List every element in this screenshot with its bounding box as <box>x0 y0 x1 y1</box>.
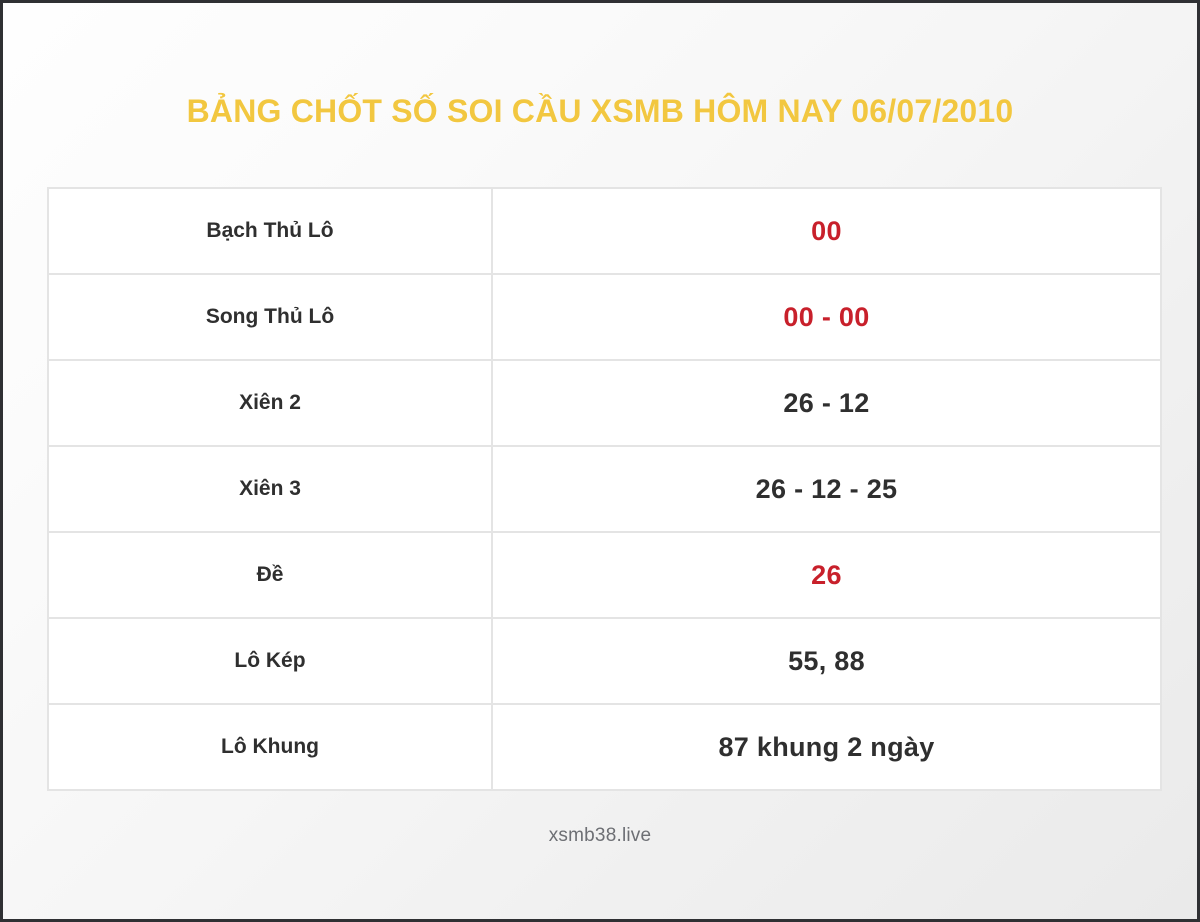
lottery-prediction-table: Bạch Thủ Lô00Song Thủ Lô00 - 00Xiên 226 … <box>47 187 1162 791</box>
row-label: Lô Khung <box>48 704 492 790</box>
row-label: Xiên 3 <box>48 446 492 532</box>
row-value: 87 khung 2 ngày <box>492 704 1161 790</box>
table-row: Xiên 226 - 12 <box>48 360 1161 446</box>
row-value: 00 - 00 <box>492 274 1161 360</box>
page-title: BẢNG CHỐT SỐ SOI CẦU XSMB HÔM NAY 06/07/… <box>187 93 1014 130</box>
site-watermark: xsmb38.live <box>549 825 652 846</box>
row-value: 26 <box>492 532 1161 618</box>
table-row: Lô Kép55, 88 <box>48 618 1161 704</box>
row-label: Bạch Thủ Lô <box>48 188 492 274</box>
row-label: Đề <box>48 532 492 618</box>
table-row: Lô Khung87 khung 2 ngày <box>48 704 1161 790</box>
row-label: Xiên 2 <box>48 360 492 446</box>
row-value: 26 - 12 <box>492 360 1161 446</box>
title-bar: BẢNG CHỐT SỐ SOI CẦU XSMB HÔM NAY 06/07/… <box>3 93 1197 130</box>
row-label: Song Thủ Lô <box>48 274 492 360</box>
table-row: Song Thủ Lô00 - 00 <box>48 274 1161 360</box>
table-row: Đề26 <box>48 532 1161 618</box>
footer-bar: xsmb38.live <box>3 825 1197 847</box>
row-value: 00 <box>492 188 1161 274</box>
prediction-card: BẢNG CHỐT SỐ SOI CẦU XSMB HÔM NAY 06/07/… <box>0 0 1200 922</box>
row-value: 55, 88 <box>492 618 1161 704</box>
table-row: Xiên 326 - 12 - 25 <box>48 446 1161 532</box>
table-body: Bạch Thủ Lô00Song Thủ Lô00 - 00Xiên 226 … <box>48 188 1161 790</box>
row-value: 26 - 12 - 25 <box>492 446 1161 532</box>
table-row: Bạch Thủ Lô00 <box>48 188 1161 274</box>
row-label: Lô Kép <box>48 618 492 704</box>
